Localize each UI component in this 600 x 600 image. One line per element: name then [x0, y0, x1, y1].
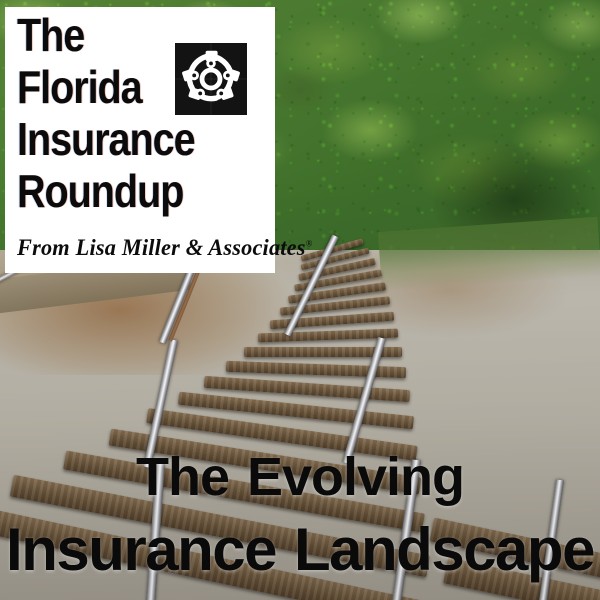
network-gear-icon: [175, 43, 247, 115]
episode-title: TheEvolving InsuranceLandscape: [0, 450, 600, 580]
episode-title-word: Insurance: [5, 520, 277, 580]
brand-tagline-text: From Lisa Miller & Associates: [17, 235, 306, 260]
episode-title-word-text: The: [136, 447, 229, 507]
brand-line-4: Roundup: [17, 165, 232, 217]
network-gear-glyph: [181, 49, 241, 109]
brand-line-3: Insurance: [17, 113, 232, 165]
episode-title-word: The: [135, 450, 230, 504]
registered-mark: ®: [306, 238, 313, 248]
brand-tagline: From Lisa Miller & Associates®: [17, 235, 265, 261]
episode-title-word-text: Evolving: [247, 447, 464, 507]
episode-title-word: Landscape: [293, 520, 595, 580]
episode-title-word-text: Landscape: [294, 516, 594, 583]
podcast-cover-art: The Florida Insurance Roundup: [0, 0, 600, 600]
episode-title-word: Evolving: [246, 450, 465, 504]
episode-title-line-2: InsuranceLandscape: [0, 520, 600, 580]
brand-logo-card: The Florida Insurance Roundup: [5, 7, 275, 273]
episode-title-line-1: TheEvolving: [0, 450, 600, 504]
episode-title-word-text: Insurance: [6, 516, 276, 583]
